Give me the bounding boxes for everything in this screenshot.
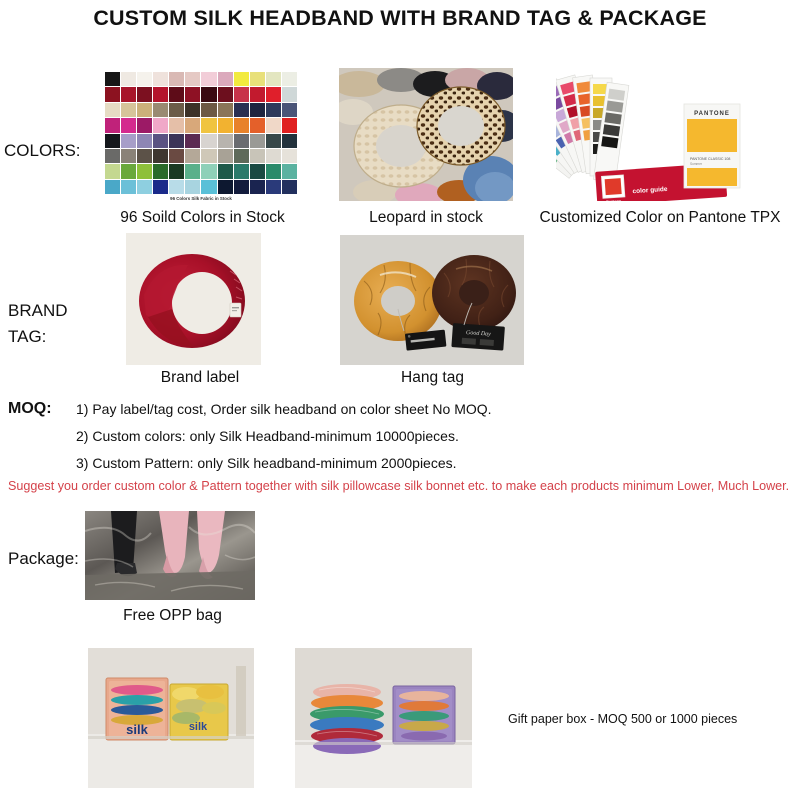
- color-swatch: [137, 180, 152, 194]
- svg-text:silk: silk: [189, 721, 208, 733]
- color-swatch: [234, 103, 249, 117]
- color-swatch: [153, 103, 168, 117]
- color-swatch: [121, 118, 136, 132]
- color-swatch: [250, 87, 265, 101]
- color-swatch: [137, 103, 152, 117]
- color-swatch: [185, 180, 200, 194]
- color-swatch: [266, 164, 281, 178]
- color-swatch: [185, 87, 200, 101]
- color-swatch: [282, 118, 297, 132]
- color-swatch: [185, 103, 200, 117]
- color-swatch: [169, 149, 184, 163]
- color-swatch: [105, 118, 120, 132]
- color-swatch: [282, 180, 297, 194]
- color-swatch: [185, 72, 200, 86]
- color-swatch: [169, 103, 184, 117]
- photo-opp-bag: [85, 511, 255, 600]
- color-swatch: [201, 118, 216, 132]
- svg-text:PANTONE CLASSIC 108: PANTONE CLASSIC 108: [690, 157, 730, 161]
- color-swatch: [105, 164, 120, 178]
- color-swatch: [137, 118, 152, 132]
- color-swatch: [282, 72, 297, 86]
- color-swatch: [185, 134, 200, 148]
- svg-text:silk: silk: [126, 722, 148, 737]
- color-swatch: [234, 87, 249, 101]
- color-swatch: [153, 180, 168, 194]
- color-swatch: [121, 164, 136, 178]
- color-swatch: [201, 180, 216, 194]
- color-swatch: [121, 87, 136, 101]
- color-swatch: [250, 134, 265, 148]
- color-swatch: [105, 149, 120, 163]
- color-swatch: [169, 118, 184, 132]
- color-swatch: [234, 118, 249, 132]
- moq-item-2: 2) Custom colors: only Silk Headband-min…: [76, 428, 459, 444]
- section-label-brand: BRAND: [8, 301, 68, 321]
- moq-item-1: 1) Pay label/tag cost, Order silk headba…: [76, 401, 492, 417]
- color-swatch: [153, 87, 168, 101]
- color-swatch: [105, 72, 120, 86]
- color-swatch: [201, 164, 216, 178]
- color-swatch: [266, 87, 281, 101]
- color-swatch: [153, 164, 168, 178]
- photo-gift-box-stack: [295, 648, 472, 788]
- color-swatch: [282, 164, 297, 178]
- color-swatch: [266, 149, 281, 163]
- suggestion-note: Suggest you order custom color & Pattern…: [8, 479, 798, 493]
- color-swatch: [201, 103, 216, 117]
- color-swatch: [121, 149, 136, 163]
- color-swatch-grid: [105, 72, 297, 194]
- color-swatch: [105, 103, 120, 117]
- color-swatch: [121, 103, 136, 117]
- page-title: CUSTOM SILK HEADBAND WITH BRAND TAG & PA…: [0, 6, 800, 31]
- svg-text:PANTONE: PANTONE: [694, 111, 730, 117]
- color-swatch: [234, 180, 249, 194]
- color-swatch: [137, 134, 152, 148]
- color-swatch: [218, 149, 233, 163]
- color-swatch: [266, 118, 281, 132]
- color-swatch: [234, 149, 249, 163]
- color-swatch: [153, 134, 168, 148]
- section-label-moq: MOQ:: [8, 400, 52, 418]
- caption-pantone: Customized Color on Pantone TPX: [525, 209, 795, 227]
- color-swatch: [234, 164, 249, 178]
- svg-text:Pantone: Pantone: [606, 198, 622, 201]
- color-swatch: [105, 180, 120, 194]
- caption-solid-colors: 96 Soild Colors in Stock: [95, 209, 310, 227]
- caption-hang-tag: Hang tag: [335, 369, 530, 387]
- photo-leopard-scrunchies: [339, 68, 513, 201]
- color-swatch: [153, 72, 168, 86]
- color-swatch: [169, 134, 184, 148]
- photo-gift-box-pair: silk silk: [88, 648, 254, 788]
- color-swatch: [153, 118, 168, 132]
- color-swatch: [282, 134, 297, 148]
- section-label-package: Package:: [8, 549, 79, 569]
- color-swatch: [250, 103, 265, 117]
- color-swatch: [218, 87, 233, 101]
- color-swatch: [201, 72, 216, 86]
- section-label-colors: COLORS:: [4, 141, 81, 161]
- color-swatch: [250, 72, 265, 86]
- color-swatch: [137, 149, 152, 163]
- color-swatch: [169, 87, 184, 101]
- color-swatch: [169, 72, 184, 86]
- color-swatch: [105, 87, 120, 101]
- caption-gift-box: Gift paper box - MOQ 500 or 1000 pieces: [508, 712, 788, 726]
- photo-hang-tag-scrunchies: Good Day: [340, 235, 524, 365]
- color-swatch: [185, 164, 200, 178]
- color-swatch: [185, 149, 200, 163]
- section-label-tag: TAG:: [8, 327, 46, 347]
- color-swatch: [250, 118, 265, 132]
- color-swatch: [218, 180, 233, 194]
- caption-opp-bag: Free OPP bag: [80, 607, 265, 625]
- color-swatch: [137, 87, 152, 101]
- color-swatch: [121, 180, 136, 194]
- color-swatch: [201, 134, 216, 148]
- color-swatch: [201, 149, 216, 163]
- color-swatch: [282, 103, 297, 117]
- color-swatch: [218, 103, 233, 117]
- photo-pantone-fandeck: Pantone color guide PANTONE PANTONE CLAS…: [556, 68, 756, 201]
- color-swatch: [201, 87, 216, 101]
- color-swatch: [121, 72, 136, 86]
- color-swatch: [266, 134, 281, 148]
- color-swatch: [169, 164, 184, 178]
- color-swatch: [250, 149, 265, 163]
- color-swatch: [282, 87, 297, 101]
- color-swatch: [250, 180, 265, 194]
- color-swatch: [169, 180, 184, 194]
- color-swatch: [105, 134, 120, 148]
- color-swatch: [185, 118, 200, 132]
- photo-brand-label-headband: [126, 233, 261, 365]
- moq-item-3: 3) Custom Pattern: only Silk headband-mi…: [76, 455, 457, 471]
- color-swatch: [218, 164, 233, 178]
- color-swatch: [250, 164, 265, 178]
- color-swatch: [234, 72, 249, 86]
- color-swatch: [266, 103, 281, 117]
- color-swatch: [137, 72, 152, 86]
- color-swatch: [218, 134, 233, 148]
- color-swatch-chart: 96 Colors Silk Fabric in Stock: [100, 68, 302, 208]
- color-swatch: [266, 72, 281, 86]
- color-swatch: [153, 149, 168, 163]
- color-swatch: [266, 180, 281, 194]
- color-swatch: [282, 149, 297, 163]
- color-swatch: [218, 118, 233, 132]
- svg-text:Summer: Summer: [690, 162, 703, 166]
- caption-brand-label: Brand label: [120, 369, 280, 387]
- color-swatch: [121, 134, 136, 148]
- color-swatch: [218, 72, 233, 86]
- swatch-chart-caption: 96 Colors Silk Fabric in Stock: [100, 196, 302, 201]
- color-swatch: [137, 164, 152, 178]
- color-swatch: [234, 134, 249, 148]
- caption-leopard: Leopard in stock: [336, 209, 516, 227]
